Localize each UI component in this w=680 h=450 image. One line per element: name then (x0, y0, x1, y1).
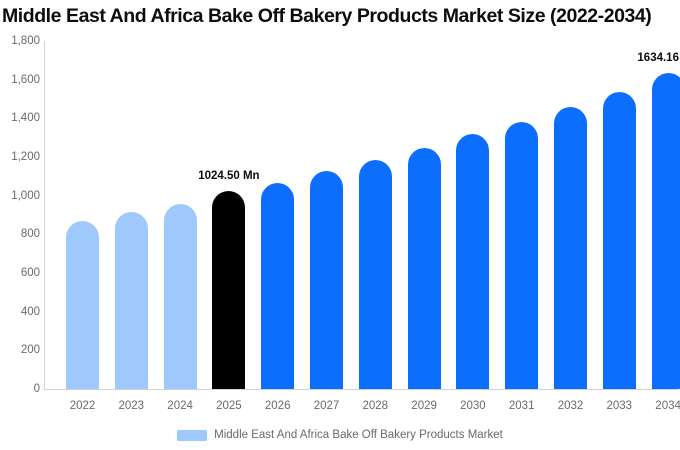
bar-2024[interactable] (164, 204, 197, 389)
y-axis-tick-label: 1,200 (2, 151, 40, 163)
x-axis-tick-label: 2025 (216, 400, 242, 412)
bar-value-label: 1634.16 Mn (637, 52, 680, 64)
y-axis-tick-label: 400 (2, 306, 40, 318)
bar-2023[interactable] (115, 212, 148, 389)
bar-2028[interactable] (359, 160, 392, 389)
x-axis-line (44, 389, 678, 390)
bar-2025[interactable] (212, 191, 245, 389)
bar-2032[interactable] (554, 107, 587, 389)
x-axis-tick-label: 2022 (70, 400, 96, 412)
legend-swatch-icon (177, 430, 207, 441)
y-axis-tick-label: 600 (2, 267, 40, 279)
plot-area (44, 41, 676, 389)
y-axis: 02004006008001,0001,2001,4001,6001,800 (0, 0, 40, 450)
bar-2022[interactable] (66, 221, 99, 389)
x-axis-tick-label: 2029 (411, 400, 437, 412)
x-axis-tick-label: 2031 (509, 400, 535, 412)
x-axis-tick-label: 2027 (314, 400, 340, 412)
x-axis-tick-label: 2024 (167, 400, 193, 412)
y-axis-tick-label: 1,400 (2, 112, 40, 124)
bar-2026[interactable] (261, 183, 294, 389)
y-axis-tick-label: 1,600 (2, 74, 40, 86)
y-axis-tick-label: 200 (2, 344, 40, 356)
bar-2027[interactable] (310, 171, 343, 389)
y-axis-tick-label: 0 (2, 383, 40, 395)
y-axis-tick-label: 800 (2, 228, 40, 240)
bar-2034[interactable] (652, 73, 680, 389)
bar-2030[interactable] (456, 134, 489, 389)
bar-2029[interactable] (408, 148, 441, 389)
chart-title: Middle East And Africa Bake Off Bakery P… (2, 2, 680, 30)
x-axis-tick-label: 2033 (607, 400, 633, 412)
x-axis-tick-label: 2032 (558, 400, 584, 412)
chart-legend: Middle East And Africa Bake Off Bakery P… (0, 426, 680, 444)
y-axis-tick-label: 1,000 (2, 190, 40, 202)
legend-item-label: Middle East And Africa Bake Off Bakery P… (214, 429, 503, 441)
x-axis-tick-label: 2026 (265, 400, 291, 412)
bar-2033[interactable] (603, 92, 636, 389)
x-axis-tick-label: 2034 (655, 400, 680, 412)
y-axis-tick-label: 1,800 (2, 35, 40, 47)
x-axis-tick-label: 2028 (363, 400, 389, 412)
bar-2031[interactable] (505, 122, 538, 389)
bar-chart: Middle East And Africa Bake Off Bakery P… (0, 0, 680, 450)
x-axis-tick-label: 2023 (119, 400, 145, 412)
x-axis-tick-label: 2030 (460, 400, 486, 412)
bar-value-label: 1024.50 Mn (198, 170, 259, 182)
